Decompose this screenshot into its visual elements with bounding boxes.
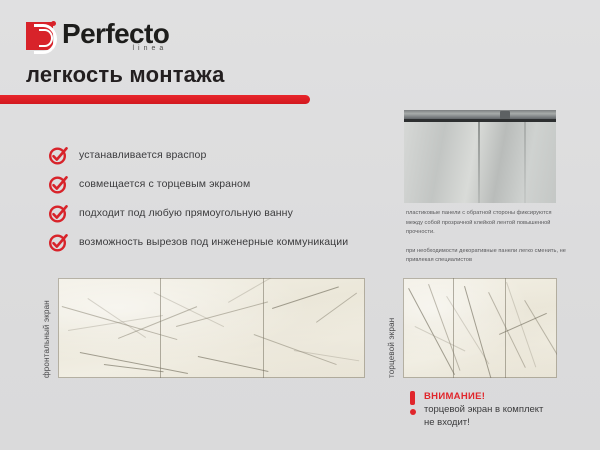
list-item-label: возможность вырезов под инженерные комму… <box>79 236 348 248</box>
brand-name: Perfecto <box>62 20 169 48</box>
warning-line-2: не входит! <box>424 416 585 429</box>
warning-block: ВНИМАНИЕ! торцевой экран в комплект не в… <box>410 390 585 429</box>
list-item: подходит под любую прямоугольную ванну <box>48 200 378 226</box>
slide-background: Perfecto linea легкость монтажа устанавл… <box>0 0 600 450</box>
description-paragraph: при необходимости декоративные панели ле… <box>406 247 566 266</box>
list-item-label: устанавливается враспор <box>79 149 206 161</box>
front-panel-image <box>58 278 365 378</box>
front-panel-label: фронтальный экран <box>42 278 51 378</box>
list-item-label: совмещается с торцевым экраном <box>79 178 250 190</box>
description-block: пластиковые панели с обратной стороны фи… <box>406 209 566 275</box>
title-underline-bar <box>0 95 310 104</box>
bath-screen-photo <box>404 110 556 203</box>
warning-line-1: торцевой экран в комплект <box>424 403 585 416</box>
brand-logo: Perfecto linea <box>26 20 169 52</box>
check-circle-icon <box>48 203 69 224</box>
check-circle-icon <box>48 145 69 166</box>
exclamation-icon <box>410 391 416 415</box>
check-circle-icon <box>48 232 69 253</box>
list-item: возможность вырезов под инженерные комму… <box>48 229 378 255</box>
feature-list: устанавливается враспор совмещается с то… <box>48 142 378 258</box>
list-item: совмещается с торцевым экраном <box>48 171 378 197</box>
warning-title: ВНИМАНИЕ! <box>424 390 585 403</box>
brand-subtitle: linea <box>132 45 167 52</box>
list-item: устанавливается враспор <box>48 142 378 168</box>
description-paragraph: пластиковые панели с обратной стороны фи… <box>406 209 566 238</box>
side-panel-image <box>403 278 557 378</box>
check-circle-icon <box>48 174 69 195</box>
list-item-label: подходит под любую прямоугольную ванну <box>79 207 293 219</box>
perfecto-swoosh-logo-icon <box>26 20 56 52</box>
side-panel-label: торцевой экран <box>387 278 396 378</box>
page-title: легкость монтажа <box>26 62 225 88</box>
